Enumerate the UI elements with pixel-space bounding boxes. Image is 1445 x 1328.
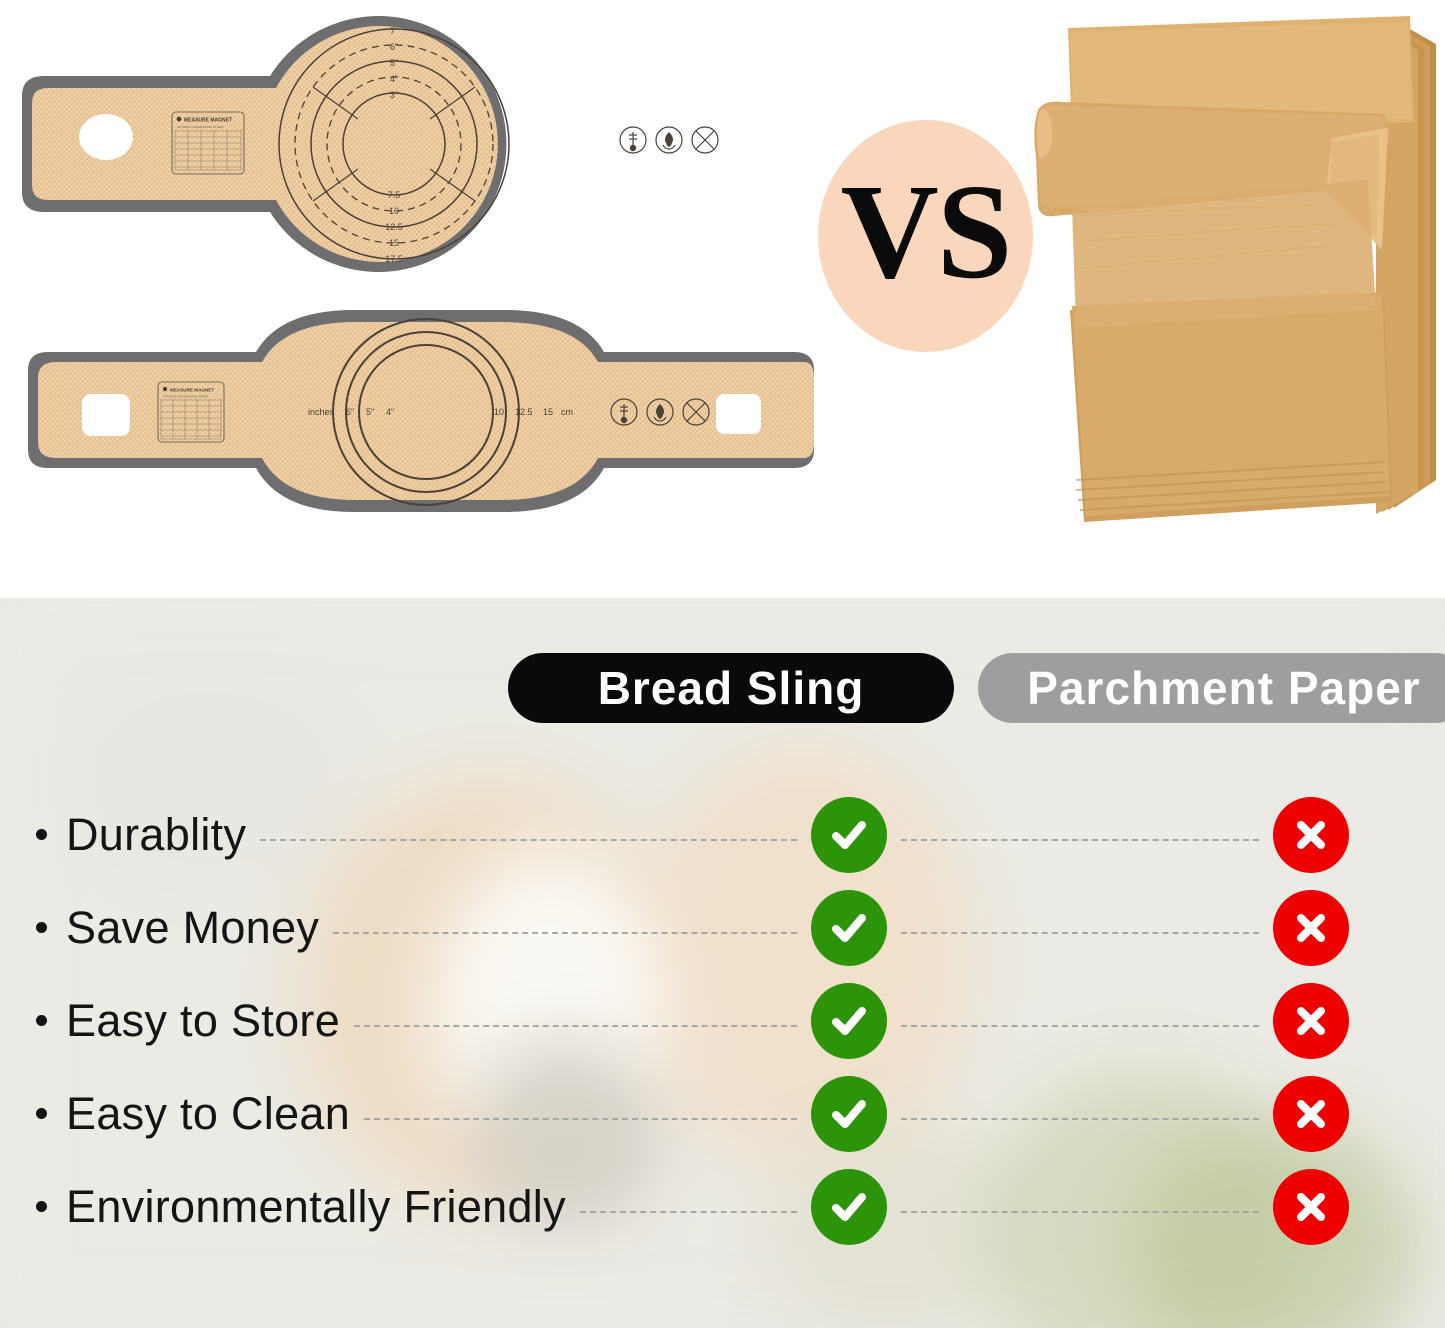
comparison-row: Easy to Clean: [0, 1067, 1445, 1160]
bread-sling-mat-square-handle: MEASURE MAGNET KITCHEN CONVERSION CHART: [24, 300, 814, 535]
leader-line: [901, 1025, 1259, 1028]
leader-line: [901, 839, 1259, 842]
bread-sling-mat-round-handle: MEASURE MAGNET KITCHEN CONVERSION CHART: [18, 8, 808, 280]
feature-label: Easy to Store: [66, 995, 340, 1047]
check-icon-bread-sling: [811, 890, 887, 966]
bullet-icon: [36, 829, 47, 840]
cross-icon-parchment-paper: [1273, 890, 1349, 966]
svg-text:MEASURE MAGNET: MEASURE MAGNET: [170, 388, 214, 393]
check-icon-bread-sling: [811, 1169, 887, 1245]
feature-label: Environmentally Friendly: [66, 1181, 566, 1233]
leader-line: [901, 932, 1259, 935]
bullet-icon: [36, 1015, 47, 1026]
cross-icon-parchment-paper: [1273, 1169, 1349, 1245]
svg-text:7": 7": [390, 26, 398, 36]
cross-icon-parchment-paper: [1273, 983, 1349, 1059]
bullet-icon: [36, 1108, 47, 1119]
svg-text:3": 3": [390, 90, 398, 100]
comparison-row: Save Money: [0, 881, 1445, 974]
svg-text:17.5: 17.5: [385, 254, 403, 264]
svg-text:4": 4": [386, 407, 394, 417]
bullet-icon: [36, 922, 47, 933]
cross-icon-parchment-paper: [1273, 797, 1349, 873]
column-header-bread-sling: Bread Sling: [508, 653, 954, 723]
thermometer-icon: [620, 127, 646, 153]
svg-text:15: 15: [543, 407, 553, 417]
comparison-header-row: Bread Sling Parchment Paper: [0, 653, 1445, 725]
svg-text:KITCHEN CONVERSION CHART: KITCHEN CONVERSION CHART: [177, 125, 224, 129]
vs-badge: VS: [818, 120, 1033, 352]
comparison-row: Durablity: [0, 788, 1445, 881]
leader-line: [901, 1118, 1259, 1121]
svg-text:6": 6": [390, 42, 398, 52]
svg-text:7.5: 7.5: [388, 190, 401, 200]
svg-text:inches: inches: [308, 407, 335, 417]
vs-label: VS: [841, 164, 1011, 300]
svg-text:12.5: 12.5: [515, 407, 533, 417]
leader-line: [333, 932, 797, 935]
check-icon-bread-sling: [811, 983, 887, 1059]
leader-line: [260, 839, 797, 842]
svg-text:12.5: 12.5: [385, 222, 403, 232]
feature-label: Durablity: [66, 809, 246, 861]
feature-label: Save Money: [66, 902, 319, 954]
leader-line: [354, 1025, 797, 1028]
parchment-paper-stack: [1032, 10, 1444, 535]
column-header-parchment-paper: Parchment Paper: [978, 653, 1445, 723]
check-icon-bread-sling: [811, 797, 887, 873]
cross-icon-parchment-paper: [1273, 1076, 1349, 1152]
comparison-row: Easy to Store: [0, 974, 1445, 1067]
svg-text:5": 5": [366, 407, 374, 417]
svg-text:6": 6": [346, 407, 354, 417]
svg-text:15: 15: [389, 238, 399, 248]
no-cut-icon: [692, 127, 718, 153]
feature-label: Easy to Clean: [66, 1088, 350, 1140]
check-icon-bread-sling: [811, 1076, 887, 1152]
flame-icon: [656, 127, 682, 153]
comparison-panel: Bread Sling Parchment Paper Durablity: [0, 598, 1445, 1328]
svg-text:10: 10: [389, 206, 399, 216]
svg-text:10: 10: [494, 407, 504, 417]
leader-line: [580, 1211, 797, 1214]
svg-text:5": 5": [390, 58, 398, 68]
bullet-icon: [36, 1201, 47, 1212]
svg-text:cm: cm: [561, 407, 573, 417]
leader-line: [364, 1118, 797, 1121]
svg-text:KITCHEN CONVERSION CHART: KITCHEN CONVERSION CHART: [163, 395, 208, 399]
comparison-row: Environmentally Friendly: [0, 1160, 1445, 1253]
svg-text:MEASURE MAGNET: MEASURE MAGNET: [184, 118, 232, 124]
leader-line: [901, 1211, 1259, 1214]
svg-text:4": 4": [390, 74, 398, 84]
product-showcase-panel: MEASURE MAGNET KITCHEN CONVERSION CHART: [0, 0, 1445, 598]
comparison-rows: Durablity Save Money: [0, 788, 1445, 1253]
